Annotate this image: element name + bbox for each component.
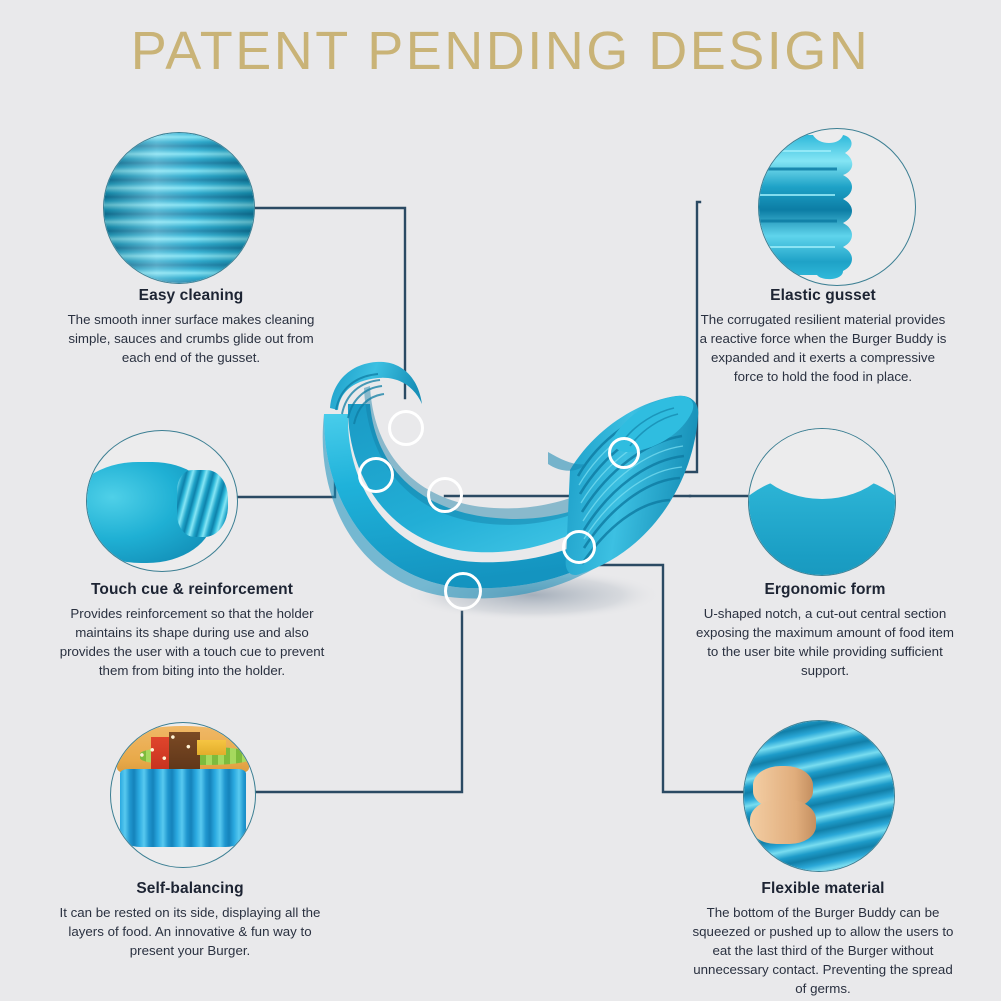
hotspot-corrugation[interactable] <box>562 530 596 564</box>
hotspot-elastic-edge[interactable] <box>608 437 640 469</box>
feature-heading-flexible-material: Flexible material <box>692 880 954 898</box>
feature-image-easy-cleaning[interactable] <box>103 132 255 284</box>
feature-text-ergonomic-form: Ergonomic form U-shaped notch, a cut-out… <box>695 581 955 680</box>
feature-text-flexible-material: Flexible material The bottom of the Burg… <box>692 880 954 998</box>
feature-body-self-balancing: It can be rested on its side, displaying… <box>56 903 324 960</box>
scalloped-gusset-edge-closeup-icon <box>759 129 915 285</box>
page-title: PATENT PENDING DESIGN <box>0 20 1001 82</box>
feature-body-touch-cue: Provides reinforcement so that the holde… <box>58 604 326 680</box>
feature-body-easy-cleaning: The smooth inner surface makes cleaning … <box>62 310 320 367</box>
feature-heading-touch-cue: Touch cue & reinforcement <box>58 581 326 599</box>
feature-body-elastic-gusset: The corrugated resilient material provid… <box>697 310 949 386</box>
feature-image-touch-cue[interactable] <box>86 430 238 572</box>
feature-text-elastic-gusset: Elastic gusset The corrugated resilient … <box>697 287 949 386</box>
feature-image-ergonomic-form[interactable] <box>748 428 896 576</box>
u-shaped-notch-closeup-icon <box>749 429 895 575</box>
infographic-canvas: PATENT PENDING DESIGN <box>0 0 1001 1001</box>
feature-image-elastic-gusset[interactable] <box>758 128 916 286</box>
feature-heading-elastic-gusset: Elastic gusset <box>697 287 949 305</box>
feature-text-touch-cue: Touch cue & reinforcement Provides reinf… <box>58 581 326 680</box>
feature-image-self-balancing[interactable] <box>110 722 256 868</box>
fingers-squeezing-ribbed-material-icon <box>744 721 894 871</box>
burger-resting-in-holder-icon <box>111 723 255 867</box>
feature-body-flexible-material: The bottom of the Burger Buddy can be sq… <box>692 903 954 998</box>
holder-rim-reinforcement-closeup-icon <box>87 431 237 571</box>
feature-heading-easy-cleaning: Easy cleaning <box>62 287 320 305</box>
feature-image-flexible-material[interactable] <box>743 720 895 872</box>
hotspot-base[interactable] <box>444 572 482 610</box>
feature-text-self-balancing: Self-balancing It can be rested on its s… <box>56 880 324 960</box>
feature-heading-ergonomic-form: Ergonomic form <box>695 581 955 599</box>
product-illustration <box>318 352 708 642</box>
hotspot-inner-surface[interactable] <box>427 477 463 513</box>
feature-body-ergonomic-form: U-shaped notch, a cut-out central sectio… <box>695 604 955 680</box>
hotspot-reinforcement[interactable] <box>358 457 394 493</box>
hotspot-gusset-top[interactable] <box>388 410 424 446</box>
feature-heading-self-balancing: Self-balancing <box>56 880 324 898</box>
feature-text-easy-cleaning: Easy cleaning The smooth inner surface m… <box>62 287 320 367</box>
corrugated-blue-ribs-closeup-icon <box>104 133 254 283</box>
